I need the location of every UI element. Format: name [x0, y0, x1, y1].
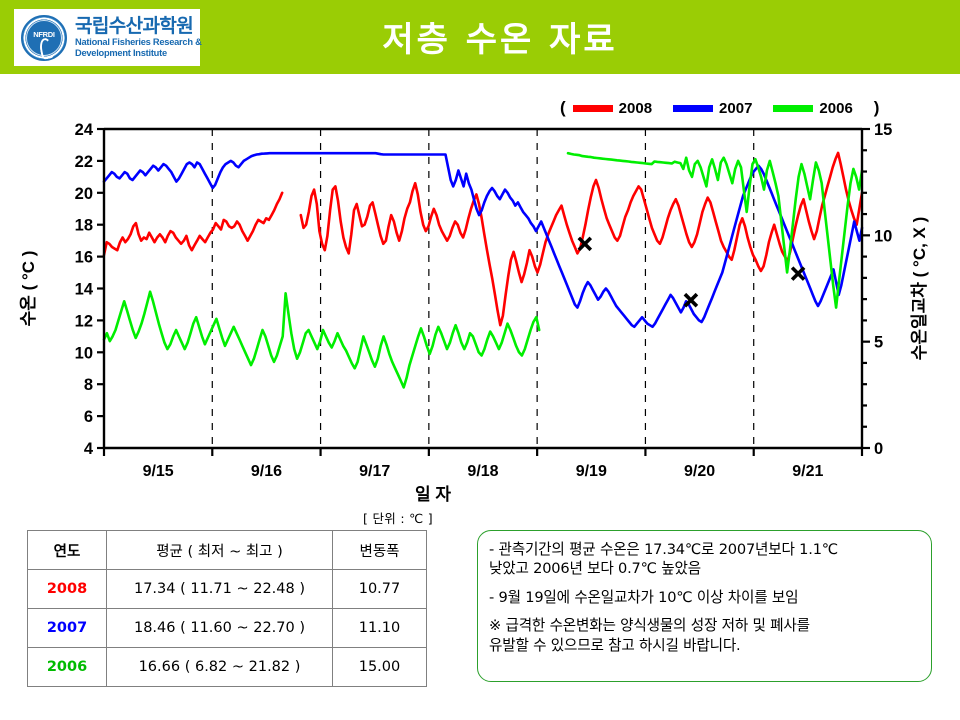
legend-swatch-2006 — [773, 105, 813, 112]
note-line: ※ 급격한 수온변화는 양식생물의 성장 저하 및 폐사를 유발할 수 있으므로… — [489, 616, 920, 655]
y-axis-title: 수온 ( °C ) — [19, 251, 38, 327]
legend-item-2006: 2006 — [773, 100, 852, 117]
column-header-mean-range: 평균 ( 최저 ~ 최고 ) — [107, 531, 333, 570]
cell-mean-range: 18.46 ( 11.60 ~ 22.70 ) — [107, 609, 333, 648]
legend-swatch-2008 — [573, 105, 613, 112]
y-tick-label: 4 — [84, 440, 94, 458]
legend-close-paren: ) — [874, 98, 880, 118]
table-body: 200817.34 ( 11.71 ~ 22.48 )10.77200718.4… — [28, 570, 427, 687]
x-tick-label: 9/21 — [792, 463, 823, 480]
chart-container: ( 2008 2007 2006 ) 468101214161820222405… — [0, 78, 960, 503]
x-tick-label: 9/17 — [359, 463, 390, 480]
note-line: - 9월 19일에 수온일교차가 10℃ 이상 차이를 보임 — [489, 588, 920, 607]
y-tick-label: 12 — [75, 312, 93, 330]
note-line: - 관측기간의 평균 수온은 17.34℃로 2007년보다 1.1℃ 낮았고 … — [489, 540, 920, 579]
table-row: 200817.34 ( 11.71 ~ 22.48 )10.77 — [28, 570, 427, 609]
table-header-row: 연도 평균 ( 최저 ~ 최고 ) 변동폭 — [28, 531, 427, 570]
x-axis-title: 일 자 — [415, 485, 451, 503]
cell-variation: 10.77 — [333, 570, 427, 609]
legend-item-2008: 2008 — [573, 100, 652, 117]
column-header-variation: 변동폭 — [333, 531, 427, 570]
x-tick-label: 9/18 — [467, 463, 498, 480]
x-tick-label: 9/16 — [251, 463, 282, 480]
cell-mean-range: 17.34 ( 11.71 ~ 22.48 ) — [107, 570, 333, 609]
legend-swatch-2007 — [673, 105, 713, 112]
cell-variation: 11.10 — [333, 609, 427, 648]
cell-year: 2008 — [28, 570, 107, 609]
cell-variation: 15.00 — [333, 648, 427, 687]
y-tick-label: 10 — [75, 344, 93, 362]
legend-label-2007: 2007 — [719, 100, 752, 117]
y2-tick-label: 0 — [874, 440, 883, 458]
chart-legend: ( 2008 2007 2006 ) — [560, 98, 879, 118]
series-line-2008 — [104, 193, 282, 255]
legend-open-paren: ( — [560, 98, 566, 118]
statistics-table: 연도 평균 ( 최저 ~ 최고 ) 변동폭 200817.34 ( 11.71 … — [27, 530, 427, 687]
page-header: NFRDI 국립수산과학원 National Fisheries Researc… — [0, 0, 960, 74]
column-header-year: 연도 — [28, 531, 107, 570]
series-line-2006 — [104, 292, 539, 388]
y2-tick-label: 15 — [874, 121, 892, 139]
y-tick-label: 24 — [75, 121, 94, 139]
cell-year: 2006 — [28, 648, 107, 687]
daily-range-marker — [792, 268, 804, 280]
cell-mean-range: 16.66 ( 6.82 ~ 21.82 ) — [107, 648, 333, 687]
y-tick-label: 20 — [75, 185, 93, 203]
y2-axis-title: 수온일교차 ( °C, X ) — [910, 217, 929, 361]
x-tick-label: 9/19 — [576, 463, 607, 480]
y-tick-label: 6 — [84, 408, 93, 426]
cell-year: 2007 — [28, 609, 107, 648]
y-tick-label: 18 — [75, 217, 93, 235]
y2-tick-label: 5 — [874, 334, 883, 352]
y2-tick-label: 10 — [874, 227, 892, 245]
notes-panel: - 관측기간의 평균 수온은 17.34℃로 2007년보다 1.1℃ 낮았고 … — [477, 530, 932, 682]
x-tick-label: 9/20 — [684, 463, 715, 480]
y-tick-label: 22 — [75, 153, 93, 171]
page-title: 저층 수온 자료 — [0, 12, 960, 61]
legend-label-2008: 2008 — [619, 100, 652, 117]
y-tick-label: 14 — [75, 281, 94, 299]
table-row: 200718.46 ( 11.60 ~ 22.70 )11.10 — [28, 609, 427, 648]
y-tick-label: 8 — [84, 376, 93, 394]
legend-item-2007: 2007 — [673, 100, 752, 117]
legend-label-2006: 2006 — [819, 100, 852, 117]
y-tick-label: 16 — [75, 249, 93, 267]
unit-label: [ 단위 : ℃ ] — [363, 508, 433, 527]
x-tick-label: 9/15 — [143, 463, 174, 480]
temperature-chart: 46810121416182022240510159/159/169/179/1… — [0, 78, 960, 503]
table-row: 200616.66 ( 6.82 ~ 21.82 )15.00 — [28, 648, 427, 687]
